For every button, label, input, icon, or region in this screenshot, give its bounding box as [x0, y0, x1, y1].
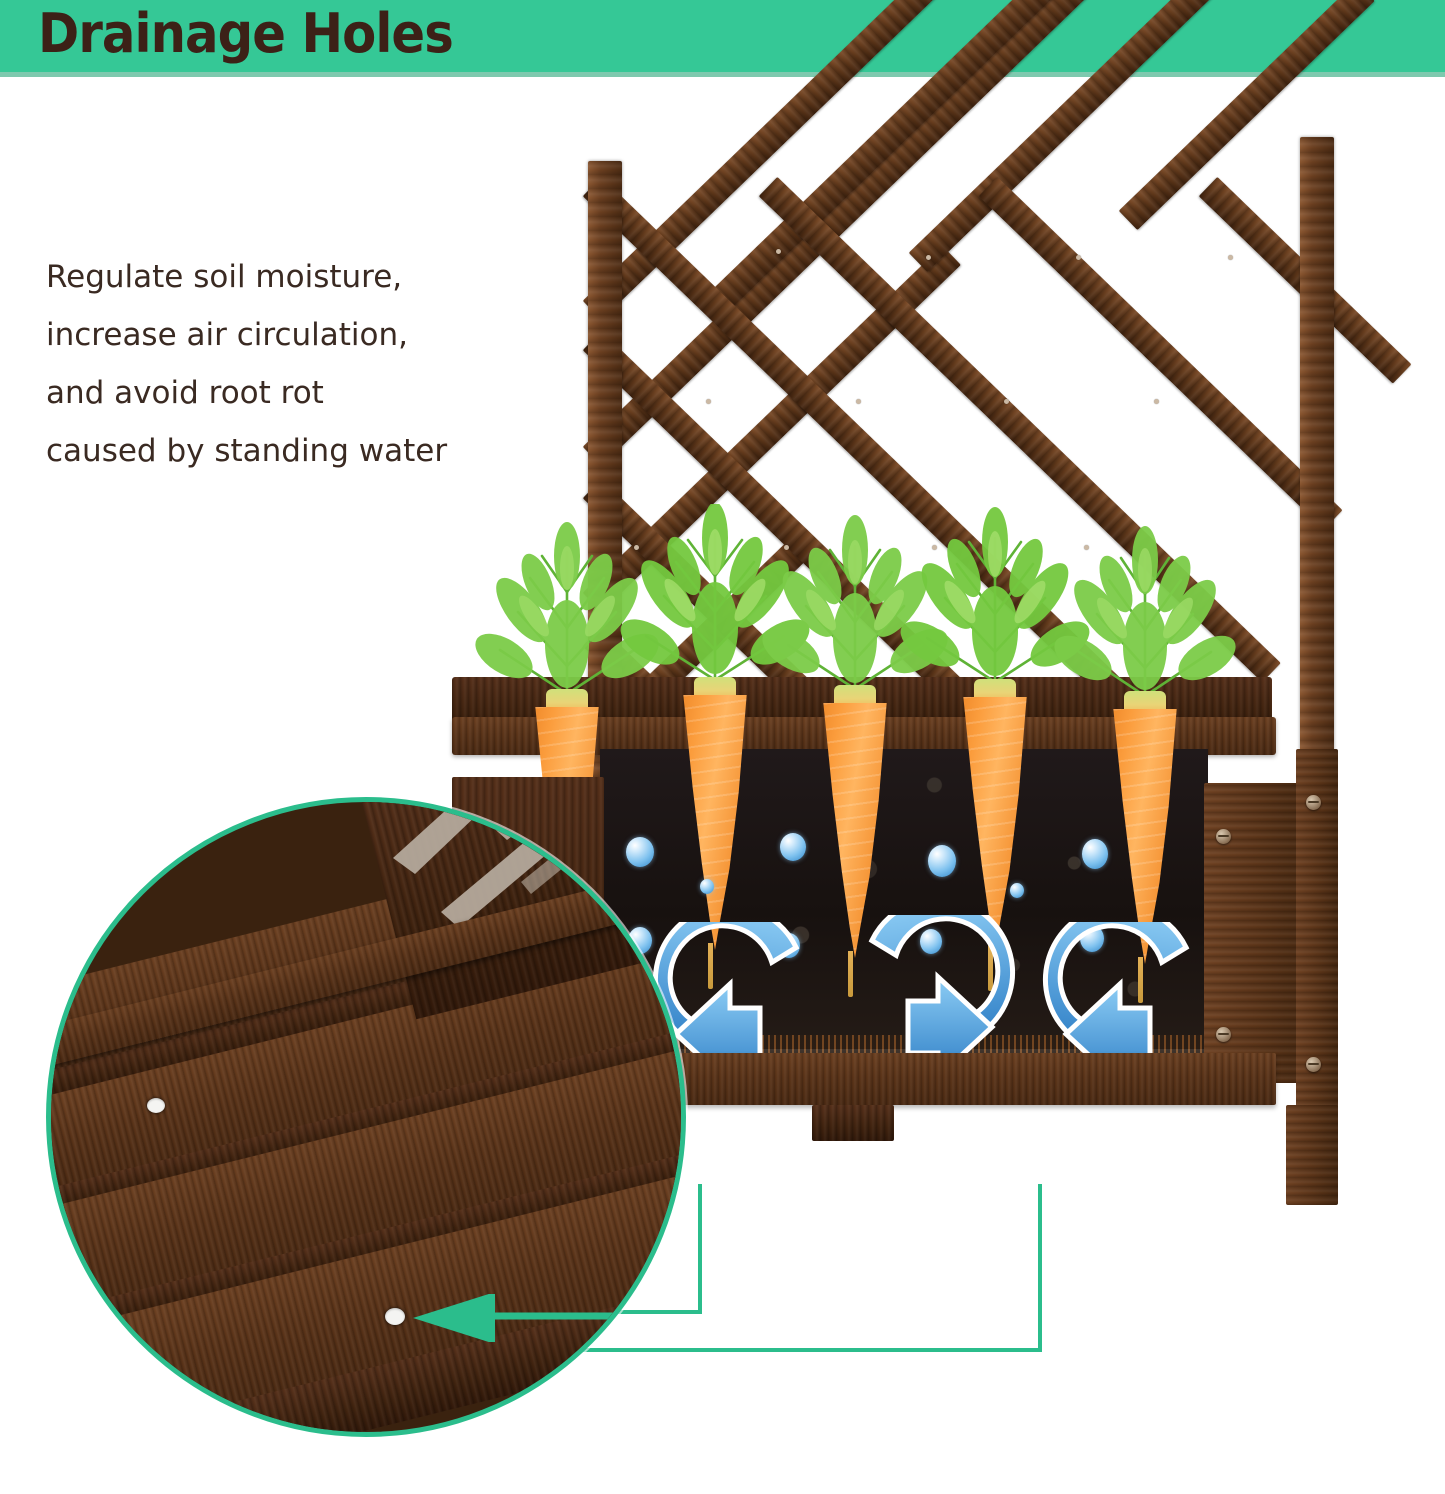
- drainage-hole-callout-arrow: [399, 1294, 686, 1342]
- trellis-slat: [979, 177, 1343, 530]
- trellis-nail-dot: [1004, 399, 1009, 404]
- panel-screw: [1306, 1057, 1321, 1072]
- carrot-greens-icon: [1038, 518, 1252, 718]
- page-title: Drainage Holes: [38, 0, 453, 70]
- trellis-nail-dot: [926, 255, 931, 260]
- drainage-hole: [147, 1098, 165, 1113]
- water-droplet: [780, 833, 806, 861]
- panel-screw: [1216, 829, 1231, 844]
- planter-center-foot: [812, 1105, 894, 1141]
- water-droplet: [700, 879, 714, 894]
- product-photo: [0, 77, 1445, 1417]
- trellis-nail-dot: [856, 399, 861, 404]
- panel-screw: [1216, 1027, 1231, 1042]
- trellis-nail-dot: [776, 249, 781, 254]
- panel-screw: [1306, 795, 1321, 810]
- planter-right-leg: [1286, 1105, 1338, 1205]
- trellis-nail-dot: [1076, 255, 1081, 260]
- trellis-nail-dot: [1154, 399, 1159, 404]
- trellis-nail-dot: [706, 399, 711, 404]
- water-droplet: [928, 845, 956, 877]
- water-droplet: [1010, 883, 1024, 898]
- magnified-detail-circle: [46, 797, 686, 1437]
- trellis-nail-dot: [1228, 255, 1233, 260]
- water-droplet: [1082, 839, 1108, 869]
- trellis-post-right: [1300, 137, 1334, 797]
